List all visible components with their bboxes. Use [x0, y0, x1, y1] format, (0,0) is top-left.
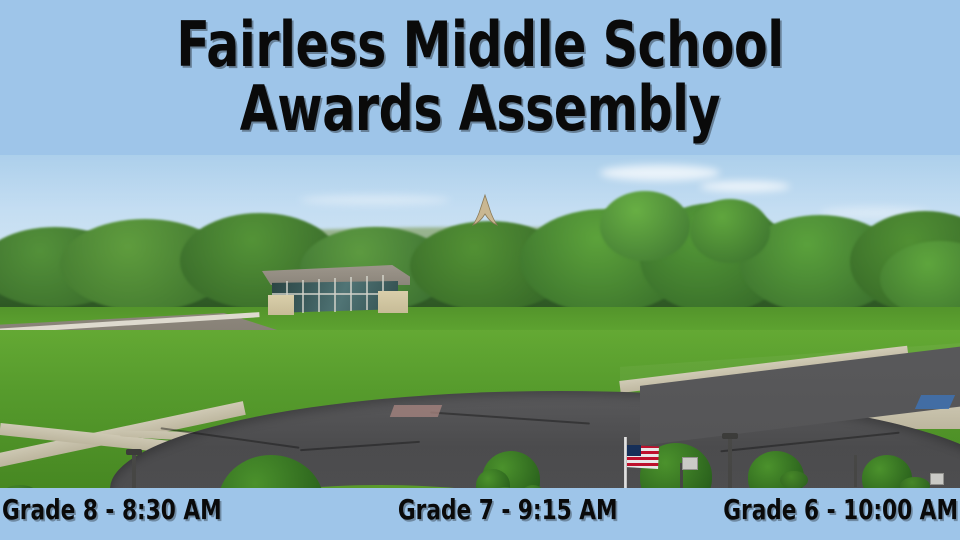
- shrub: [780, 471, 808, 488]
- lawn-sign: [930, 473, 944, 485]
- pavement-patch: [390, 405, 442, 417]
- page-title-line-2: Awards Assembly: [240, 76, 720, 142]
- schedule-banner: Grade 8 - 8:30 AM Grade 7 - 9:15 AM Grad…: [0, 488, 960, 540]
- page-title-line-1: Fairless Middle School: [176, 12, 783, 78]
- lawn-sign: [682, 457, 698, 470]
- school-campus-photo: [0, 155, 960, 488]
- light-pole-head: [722, 433, 738, 439]
- schedule-item-grade-6: Grade 6 - 10:00 AM: [723, 494, 958, 526]
- window-mullion: [318, 279, 320, 312]
- schedule-item-grade-7: Grade 7 - 9:15 AM: [398, 494, 618, 526]
- atrium-wall-left: [268, 295, 294, 315]
- light-pole: [132, 453, 136, 488]
- american-flag-canton: [627, 445, 641, 456]
- bollard-light: [854, 455, 857, 487]
- shrub: [900, 477, 930, 488]
- schedule-item-grade-8: Grade 8 - 8:30 AM: [2, 494, 222, 526]
- atrium-wall-right: [378, 291, 408, 313]
- window-mullion: [302, 280, 304, 313]
- light-pole: [728, 437, 732, 488]
- title-banner: Fairless Middle School Awards Assembly: [0, 0, 960, 155]
- light-pole-head: [126, 449, 142, 455]
- parking-marking: [915, 395, 955, 409]
- poster-canvas: Fairless Middle School Awards Assembly: [0, 0, 960, 540]
- bird-icon: [470, 193, 500, 227]
- window-mullion: [334, 278, 336, 312]
